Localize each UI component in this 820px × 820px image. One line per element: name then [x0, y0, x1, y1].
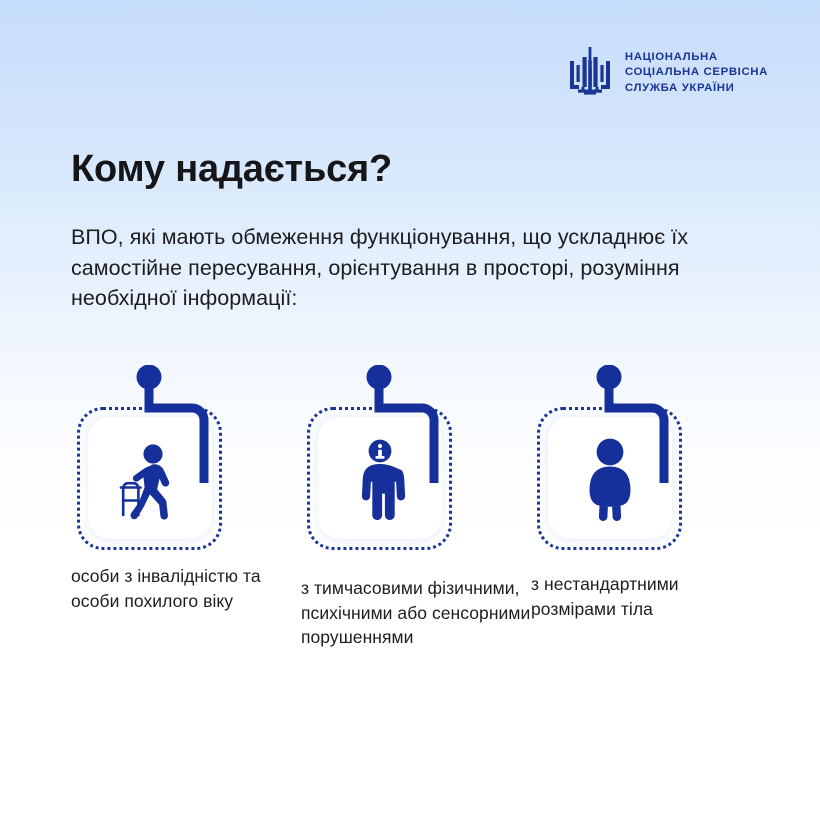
trident-emblem-icon [568, 47, 612, 99]
category-card: особи з інвалідністю та особи похилого в… [71, 365, 301, 650]
brand-name: НАЦІОНАЛЬНА СОЦІАЛЬНА СЕРВІСНА СЛУЖБА УК… [625, 50, 768, 96]
card-caption: з нестандартними розмірами тіла [531, 572, 761, 621]
person-with-info-head-icon [339, 435, 421, 521]
brand-line-1: НАЦІОНАЛЬНА [625, 50, 768, 65]
category-card: з нестандартними розмірами тіла [531, 365, 761, 650]
brand-line-3: СЛУЖБА УКРАЇНИ [625, 81, 768, 96]
icon-tile [88, 417, 212, 539]
card-artwork [301, 365, 461, 550]
card-caption: з тимчасовими фізичними, психічними або … [301, 576, 531, 650]
icon-tile [548, 417, 672, 539]
person-with-walker-icon [107, 435, 193, 521]
card-artwork [71, 365, 231, 550]
person-large-body-icon [568, 435, 652, 521]
card-caption: особи з інвалідністю та особи похилого в… [71, 564, 301, 613]
card-artwork [531, 365, 691, 550]
page-title: Кому надається? [71, 148, 392, 191]
category-card-row: особи з інвалідністю та особи похилого в… [71, 365, 761, 650]
brand-logo: НАЦІОНАЛЬНА СОЦІАЛЬНА СЕРВІСНА СЛУЖБА УК… [568, 47, 768, 99]
category-card: з тимчасовими фізичними, психічними або … [301, 365, 531, 650]
icon-tile [318, 417, 442, 539]
brand-line-2: СОЦІАЛЬНА СЕРВІСНА [625, 65, 768, 80]
intro-paragraph: ВПО, які мають обмеження функціонування,… [71, 222, 691, 314]
